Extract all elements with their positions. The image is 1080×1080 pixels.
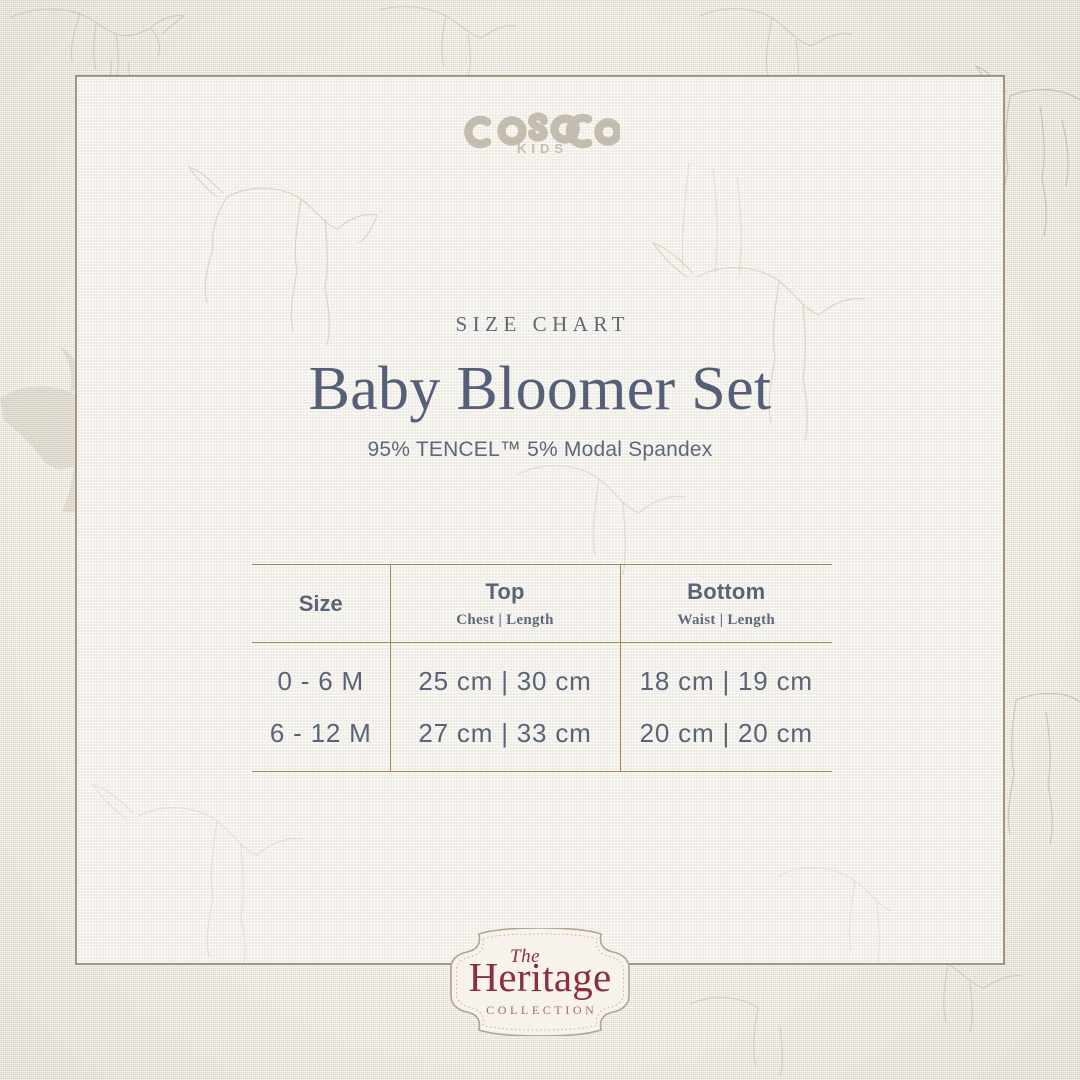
cell-bottom: 18 cm | 19 cm: [620, 643, 832, 708]
cell-size-value: 6 - 12 M: [270, 718, 372, 748]
column-header-top-label: Top: [391, 579, 620, 605]
cell-size: 6 - 12 M: [252, 707, 390, 772]
column-header-bottom: Bottom Waist | Length: [620, 565, 832, 643]
title-block: SIZE CHART Baby Bloomer Set 95% TENCEL™ …: [77, 312, 1003, 462]
eyebrow-label: SIZE CHART: [77, 312, 1003, 337]
size-chart-table: Size Top Chest | Length Bottom Waist | L…: [252, 564, 832, 772]
page-title: Baby Bloomer Set: [77, 357, 1003, 422]
content-frame: KIDS SIZE CHART Baby Bloomer Set 95% TEN…: [75, 75, 1005, 965]
table-row: 0 - 6 M 25 cm | 30 cm 18 cm | 19 cm: [252, 643, 832, 708]
column-header-bottom-label: Bottom: [621, 579, 833, 605]
cell-top-value: 25 cm | 30 cm: [418, 666, 591, 696]
logo-subtext: KIDS: [77, 141, 1003, 156]
cell-bottom-value: 18 cm | 19 cm: [640, 666, 813, 696]
column-header-size: Size: [252, 565, 390, 643]
table-header-row: Size Top Chest | Length Bottom Waist | L…: [252, 565, 832, 643]
size-chart-poster: KIDS SIZE CHART Baby Bloomer Set 95% TEN…: [0, 0, 1080, 1080]
column-header-top: Top Chest | Length: [390, 565, 620, 643]
cell-top: 25 cm | 30 cm: [390, 643, 620, 708]
cell-size-value: 0 - 6 M: [277, 666, 364, 696]
cell-top: 27 cm | 33 cm: [390, 707, 620, 772]
column-header-size-label: Size: [252, 591, 390, 617]
column-header-bottom-sublabel: Waist | Length: [621, 612, 833, 629]
fabric-composition: 95% TENCEL™ 5% Modal Spandex: [77, 438, 1003, 462]
cell-bottom: 20 cm | 20 cm: [620, 707, 832, 772]
cell-top-value: 27 cm | 33 cm: [418, 718, 591, 748]
cell-bottom-value: 20 cm | 20 cm: [640, 718, 813, 748]
cell-size: 0 - 6 M: [252, 643, 390, 708]
badge-plaque-shape: [447, 928, 633, 1036]
table-row: 6 - 12 M 27 cm | 33 cm 20 cm | 20 cm: [252, 707, 832, 772]
column-header-top-sublabel: Chest | Length: [391, 612, 620, 629]
brand-logo: KIDS: [77, 105, 1003, 156]
heritage-collection-badge: The Heritage COLLECTION: [447, 928, 633, 1036]
